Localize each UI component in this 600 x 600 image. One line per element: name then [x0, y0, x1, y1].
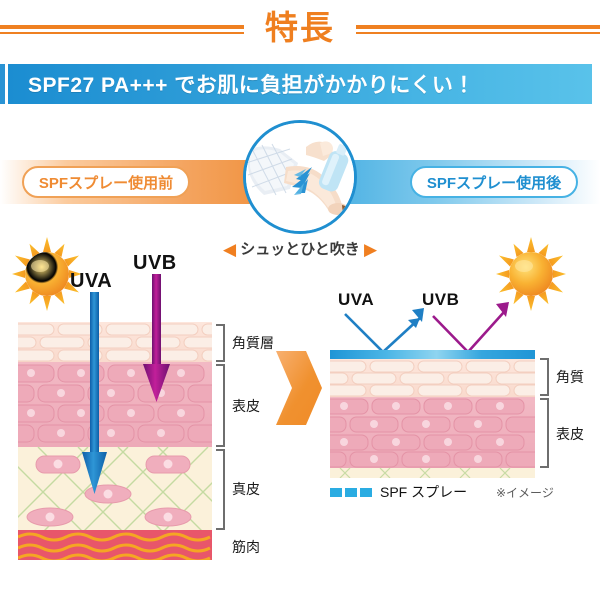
- label-after-use: SPFスプレー使用後: [410, 166, 578, 198]
- left-skin-diagram: UVA UVB: [0, 230, 300, 570]
- spray-photo: [243, 120, 357, 234]
- image-note: ※イメージ: [496, 484, 554, 501]
- spf-banner: SPF27 PA+++ でお肌に負担がかかりにくい！: [8, 64, 592, 104]
- bracket-epidermis: [216, 364, 225, 447]
- spf-banner-text: SPF27 PA+++ でお肌に負担がかかりにくい！: [8, 69, 475, 99]
- label-muscle: 筋肉: [232, 537, 260, 557]
- label-corneum: 角質層: [232, 333, 274, 353]
- label-epidermis: 表皮: [232, 396, 260, 416]
- bracket-corneum-right: [540, 358, 549, 396]
- label-epidermis-right: 表皮: [556, 424, 584, 444]
- banner-accent-bar: [0, 64, 5, 104]
- bracket-corneum: [216, 324, 225, 362]
- label-corneum-right: 角質: [556, 367, 584, 387]
- spf-legend-label: SPF スプレー: [380, 482, 467, 502]
- page-title: 特長: [0, 6, 600, 50]
- bracket-dermis: [216, 449, 225, 530]
- label-before-use: SPFスプレー使用前: [22, 166, 190, 198]
- skin-block-after: [330, 350, 535, 478]
- spf-legend-swatch-icon: [330, 488, 372, 497]
- spf-legend: SPF スプレー: [330, 482, 467, 502]
- page-header: 特長: [0, 0, 600, 58]
- bracket-epidermis-right: [540, 398, 549, 468]
- right-skin-diagram: UVA UVB: [300, 230, 600, 510]
- label-dermis: 真皮: [232, 479, 260, 499]
- infographic-root: 特長 SPF27 PA+++ でお肌に負担がかかりにくい！ SPFスプレー使用前…: [0, 0, 600, 600]
